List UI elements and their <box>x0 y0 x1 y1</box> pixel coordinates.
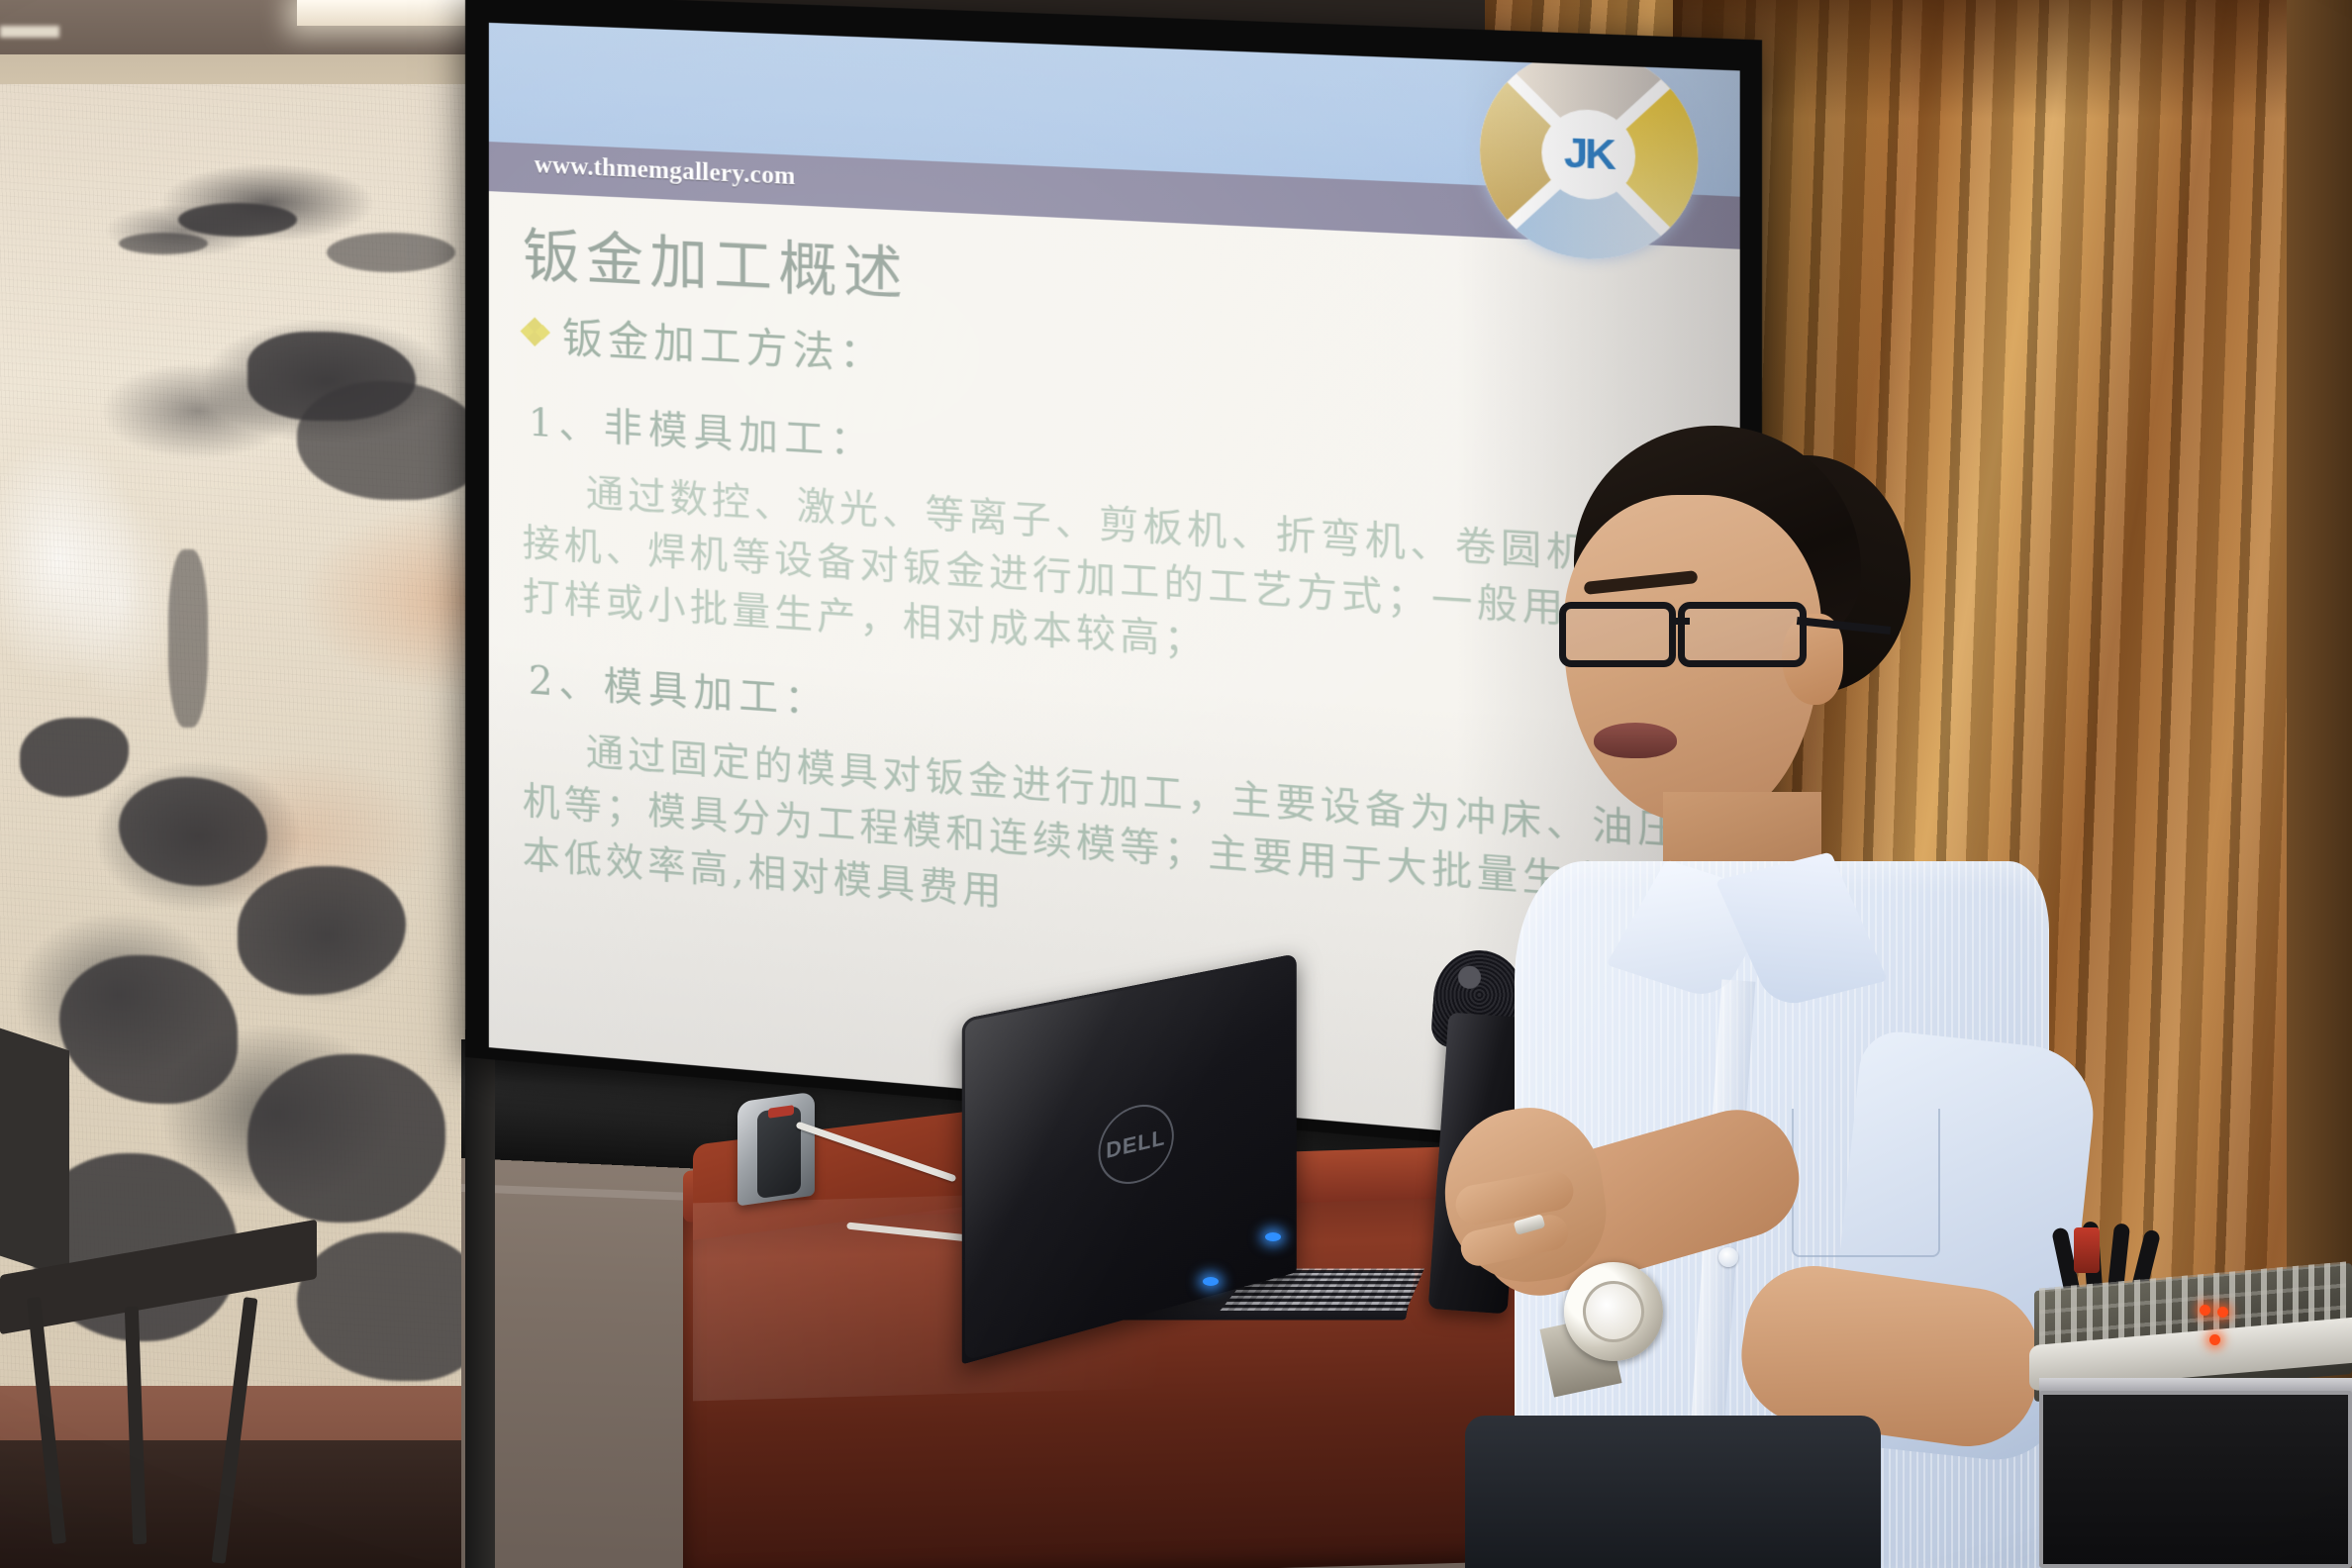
shirt-button <box>1718 1247 1738 1267</box>
logo-monogram: JK <box>1564 130 1614 179</box>
presenter <box>1416 426 2049 1568</box>
red-indicator-strip <box>2074 1227 2100 1273</box>
flight-case <box>2039 1391 2352 1568</box>
presenter-remote-body[interactable] <box>757 1106 801 1199</box>
diamond-bullet-icon <box>523 319 548 345</box>
ceiling-light <box>297 0 475 26</box>
mixer-led <box>2200 1305 2210 1316</box>
presentation-photo-scene: www.thmemgallery.com JK 钣金加工概述 <box>0 0 2352 1568</box>
chair-backrest <box>0 1029 69 1279</box>
laptop-status-led <box>1203 1277 1219 1286</box>
ceiling-light-secondary <box>0 26 59 38</box>
slide-title: 钣金加工概述 <box>523 209 909 312</box>
glasses-lens-left <box>1559 602 1676 667</box>
folding-chair <box>0 1010 495 1564</box>
mixer-led <box>2217 1307 2228 1318</box>
screen-left-post <box>465 1029 495 1568</box>
watch-face <box>1577 1275 1650 1348</box>
shirt-pocket <box>1792 1109 1940 1257</box>
laptop-power-led <box>1265 1232 1281 1241</box>
mouth <box>1594 723 1677 758</box>
glasses-icon <box>1559 594 1807 673</box>
mixer-led <box>2209 1334 2220 1345</box>
slide-bullet-label: 钣金加工方法： <box>562 304 887 381</box>
trousers <box>1465 1416 1881 1568</box>
curtain-valance <box>1673 0 2352 119</box>
glasses-lens-right <box>1678 602 1807 667</box>
glasses-bridge <box>1670 618 1690 625</box>
